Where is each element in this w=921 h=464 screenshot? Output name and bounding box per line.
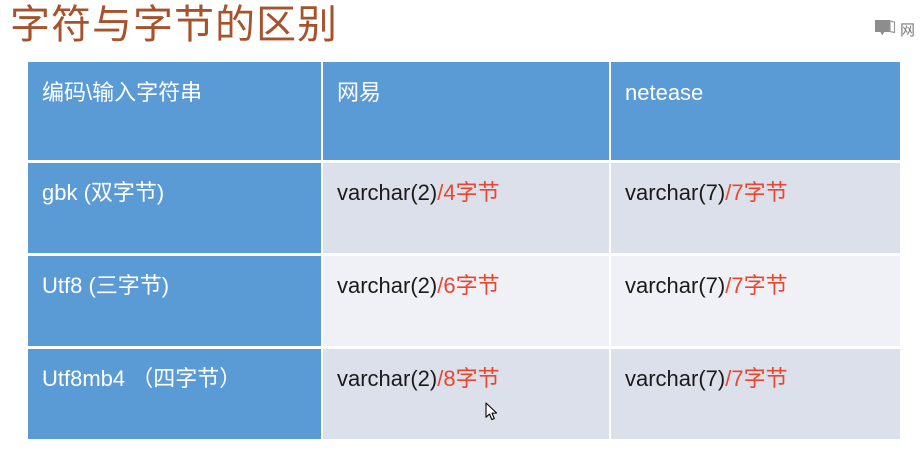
- watermark-label: 网: [900, 21, 915, 41]
- table-row: gbk (双字节) varchar(2)/4字节 varchar(7)/7字节: [28, 160, 900, 253]
- cell-bytes-text: /4字节: [437, 180, 499, 205]
- watermark-logo: 网: [875, 18, 921, 44]
- column-header-chinese-input: 网易: [323, 62, 611, 160]
- cell-varchar-text: varchar(7): [625, 273, 725, 298]
- table-row: Utf8mb4 （四字节） varchar(2)/8字节 varchar(7)/…: [28, 346, 900, 439]
- table-row: Utf8 (三字节) varchar(2)/6字节 varchar(7)/7字节: [28, 253, 900, 346]
- cell-utf8-latin: varchar(7)/7字节: [611, 253, 900, 346]
- row-label-gbk: gbk (双字节): [28, 160, 323, 253]
- cell-utf8mb4-latin: varchar(7)/7字节: [611, 346, 900, 439]
- cell-bytes-text: /8字节: [437, 366, 499, 391]
- cell-varchar-text: varchar(2): [337, 180, 437, 205]
- cell-varchar-text: varchar(2): [337, 366, 437, 391]
- cell-utf8-chinese: varchar(2)/6字节: [323, 253, 611, 346]
- column-header-latin-input: netease: [611, 62, 900, 160]
- presentation-screen-icon: [875, 20, 897, 43]
- page-title: 字符与字节的区别: [10, 0, 338, 52]
- column-header-encoding: 编码\输入字符串: [28, 62, 323, 160]
- cell-varchar-text: varchar(2): [337, 273, 437, 298]
- cell-gbk-chinese: varchar(2)/4字节: [323, 160, 611, 253]
- cell-bytes-text: /7字节: [725, 366, 787, 391]
- row-label-utf8: Utf8 (三字节): [28, 253, 323, 346]
- table-header-row: 编码\输入字符串 网易 netease: [28, 62, 900, 160]
- cell-utf8mb4-chinese: varchar(2)/8字节: [323, 346, 611, 439]
- cell-bytes-text: /7字节: [725, 180, 787, 205]
- cell-gbk-latin: varchar(7)/7字节: [611, 160, 900, 253]
- cell-bytes-text: /7字节: [725, 273, 787, 298]
- row-label-utf8mb4: Utf8mb4 （四字节）: [28, 346, 323, 439]
- encoding-comparison-table: 编码\输入字符串 网易 netease gbk (双字节) varchar(2)…: [28, 62, 900, 439]
- cell-bytes-text: /6字节: [437, 273, 499, 298]
- cell-varchar-text: varchar(7): [625, 366, 725, 391]
- cell-varchar-text: varchar(7): [625, 180, 725, 205]
- slide-canvas: 字符与字节的区别 网 编码\输入字符串 网易 netease gbk (双字节): [0, 0, 921, 464]
